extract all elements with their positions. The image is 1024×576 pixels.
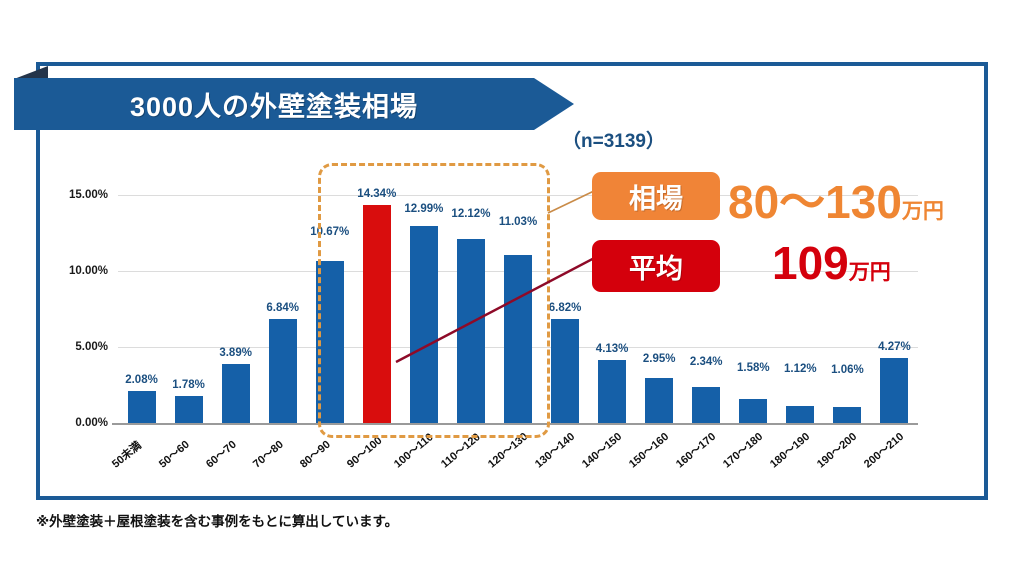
y-axis-tick-label: 10.00% (69, 265, 108, 277)
range-highlight-box (318, 163, 550, 438)
page-title: 3000人の外壁塗装相場 (14, 78, 534, 130)
bar (175, 396, 203, 423)
bar (551, 319, 579, 423)
bar (739, 399, 767, 423)
bar-item[interactable]: 1.78%50～60 (175, 180, 203, 423)
bar-value-label: 1.58% (737, 362, 770, 374)
bar-value-label: 4.13% (596, 343, 629, 355)
sample-size-label: （n=3139） (562, 126, 665, 153)
bar-value-label: 2.95% (643, 353, 676, 365)
bar (880, 358, 908, 423)
bar-item[interactable]: 6.84%70～80 (269, 180, 297, 423)
heikin-value-unit: 万円 (849, 261, 891, 284)
bar-value-label: 3.89% (219, 347, 252, 359)
footnote: ※外壁塗装＋屋根塗装を含む事例をもとに算出しています。 (36, 510, 398, 530)
souba-value-unit: 万円 (902, 200, 944, 223)
bar-value-label: 1.78% (172, 379, 205, 391)
souba-badge: 相場 (592, 172, 720, 220)
bar (269, 319, 297, 423)
bar (645, 378, 673, 423)
bar-value-label: 6.82% (549, 302, 582, 314)
bar-item[interactable]: 3.89%60～70 (222, 180, 250, 423)
bar (692, 387, 720, 423)
header-ribbon: 3000人の外壁塗装相場 （n=3139） (14, 78, 574, 130)
bar-item[interactable]: 2.08%50未満 (128, 180, 156, 423)
heikin-badge: 平均 (592, 240, 720, 292)
bar-item[interactable]: 6.82%130～140 (551, 180, 579, 423)
bar (598, 360, 626, 423)
y-axis-tick-label: 0.00% (75, 417, 108, 429)
bar (786, 406, 814, 423)
bar (833, 407, 861, 423)
y-axis-tick-label: 5.00% (75, 341, 108, 353)
bar-value-label: 4.27% (878, 341, 911, 353)
slide-canvas: 3000人の外壁塗装相場 （n=3139） 0.00%5.00%10.00%15… (0, 0, 1024, 576)
bar-value-label: 2.08% (125, 374, 158, 386)
souba-value-number: 80～130 (728, 176, 902, 228)
y-axis-tick-label: 15.00% (69, 189, 108, 201)
souba-value: 80～130万円 (728, 166, 944, 232)
bar-value-label: 6.84% (266, 302, 299, 314)
bar-value-label: 1.12% (784, 363, 817, 375)
bar (128, 391, 156, 423)
bar-value-label: 1.06% (831, 364, 864, 376)
heikin-value: 109万円 (772, 236, 891, 290)
heikin-value-number: 109 (772, 237, 849, 289)
bar (222, 364, 250, 423)
bar-value-label: 2.34% (690, 356, 723, 368)
